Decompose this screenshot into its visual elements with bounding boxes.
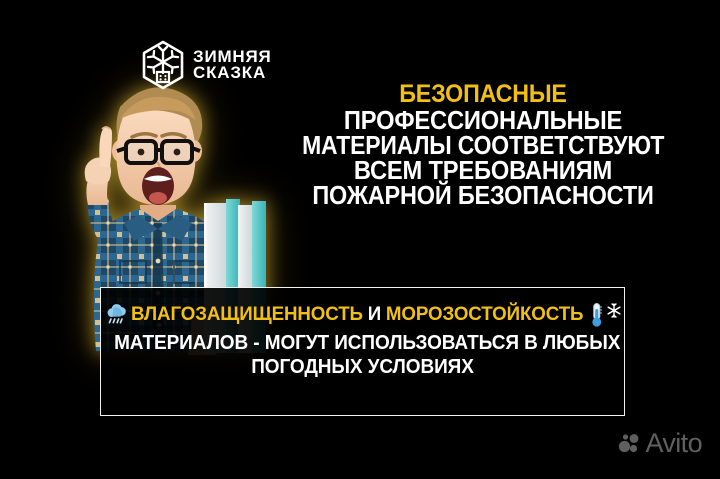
rain-cloud-icon [104, 303, 129, 327]
headline-block: БЕЗОПАСНЫЕ ПРОФЕССИОНАЛЬНЫЕ МАТЕРИАЛЫ СО… [282, 82, 684, 210]
hexagon-snowflake-house-icon [140, 40, 186, 90]
headline-line-4: ВСЕМ ТРЕБОВАНИЯМ [296, 159, 670, 184]
headline-line-3: МАТЕРИАЛЫ СООТВЕТСТВУЮТ [302, 134, 664, 159]
snowflake-icon [606, 303, 620, 318]
feature-frost-label: МОРОЗОСТОЙКОСТЬ [386, 305, 584, 325]
brand-logo: ЗИМНЯЯ СКАЗКА [140, 40, 272, 90]
features-box: ВЛАГОЗАЩИЩЕННОСТЬ И МОРОЗОСТОЙКОСТЬ [100, 287, 625, 416]
brand-line-2: СКАЗКА [193, 65, 272, 81]
headline-line-1: БЕЗОПАСНЫЕ [296, 82, 670, 107]
features-row-1: ВЛАГОЗАЩИЩЕННОСТЬ И МОРОЗОСТОЙКОСТЬ [111, 302, 613, 328]
feature-connector: И [365, 305, 384, 325]
feature-moisture-label: ВЛАГОЗАЩИЩЕННОСТЬ [131, 305, 363, 325]
avito-watermark: Avito [618, 430, 702, 457]
advertising-banner: ЗИМНЯЯ СКАЗКА БЕЗОПАСНЫЕ ПРОФЕССИОНАЛЬНЫ… [0, 0, 720, 479]
headline-line-2: ПРОФЕССИОНАЛЬНЫЕ [296, 109, 670, 134]
avito-dots-icon [618, 433, 640, 455]
thermometer-icon [589, 302, 603, 328]
brand-name: ЗИМНЯЯ СКАЗКА [193, 49, 272, 82]
features-row-3: ПОГОДНЫХ УСЛОВИЯХ [114, 357, 611, 377]
avito-wordmark: Avito [645, 430, 702, 457]
headline-line-5: ПОЖАРНОЙ БЕЗОПАСНОСТИ [298, 184, 668, 209]
features-row-2: МАТЕРИАЛОВ - МОГУТ ИСПОЛЬЗОВАТЬСЯ В ЛЮБЫ… [114, 333, 611, 353]
